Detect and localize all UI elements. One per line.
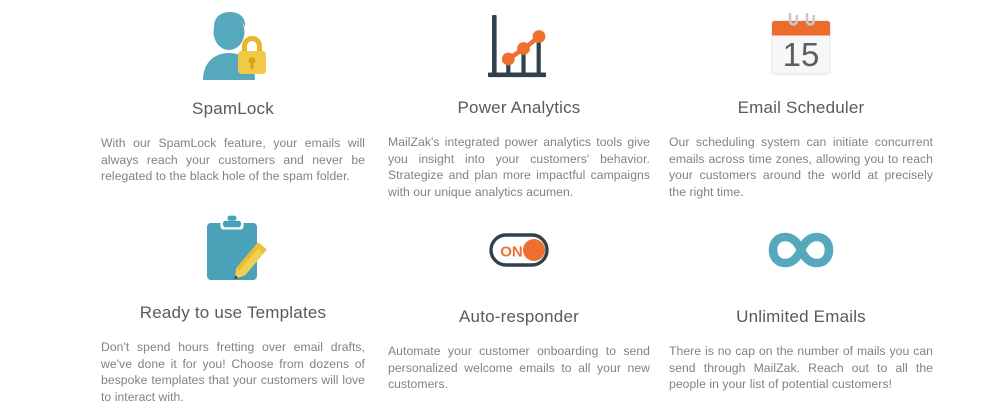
feature-card-power-analytics[interactable]: Power Analytics MailZak's integrated pow… [378, 0, 660, 200]
feature-card-auto-responder[interactable]: ON Auto-responder Automate your customer… [378, 200, 660, 405]
features-grid: SpamLock With our SpamLock feature, your… [0, 0, 1000, 405]
calendar-day-label: 15 [783, 36, 820, 73]
feature-title: Auto-responder [459, 306, 579, 328]
feature-title: SpamLock [192, 98, 274, 120]
feature-card-email-scheduler[interactable]: 15 Email Scheduler Our scheduling system… [660, 0, 942, 200]
feature-description: Don't spend hours fretting over email dr… [101, 339, 365, 405]
feature-title: Email Scheduler [738, 97, 865, 119]
clipboard-pencil-icon [92, 200, 374, 296]
features-row-top: SpamLock With our SpamLock feature, your… [0, 0, 1000, 200]
bar-chart-trend-icon [378, 0, 660, 91]
feature-description: Our scheduling system can initiate concu… [669, 134, 933, 200]
feature-card-spamlock[interactable]: SpamLock With our SpamLock feature, your… [92, 0, 374, 200]
feature-title: Ready to use Templates [140, 302, 326, 324]
feature-description: MailZak's integrated power analytics too… [388, 134, 650, 200]
calendar-icon: 15 [660, 0, 942, 91]
feature-description: There is no cap on the number of mails y… [669, 343, 933, 393]
toggle-switch-on-icon[interactable]: ON [378, 200, 660, 300]
feature-title: Unlimited Emails [736, 306, 866, 328]
features-row-bottom: Ready to use Templates Don't spend hours… [0, 200, 1000, 405]
feature-card-unlimited-emails[interactable]: Unlimited Emails There is no cap on the … [660, 200, 942, 405]
toggle-on-label: ON [500, 244, 523, 261]
feature-card-templates[interactable]: Ready to use Templates Don't spend hours… [92, 200, 374, 405]
feature-description: With our SpamLock feature, your emails w… [101, 135, 365, 185]
feature-description: Automate your customer onboarding to sen… [388, 343, 650, 393]
feature-title: Power Analytics [458, 97, 581, 119]
person-lock-icon [92, 0, 374, 92]
infinity-icon [660, 200, 942, 300]
